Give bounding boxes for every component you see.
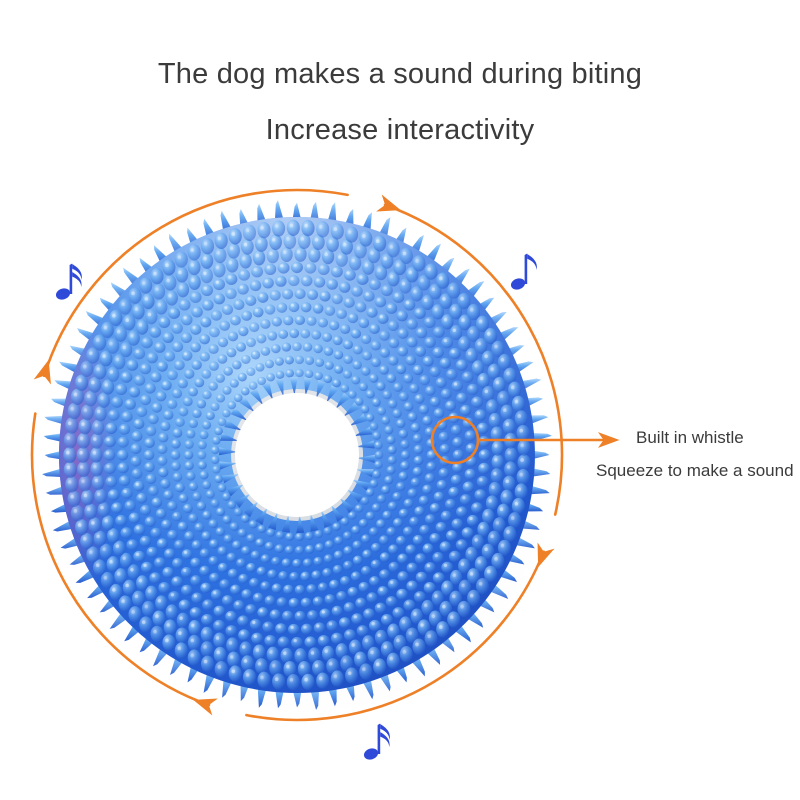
music-note-right — [509, 254, 536, 292]
product-marketing-image: The dog makes a sound during biting Incr… — [0, 0, 800, 800]
product-illustration — [0, 0, 800, 800]
callout-subtitle: Squeeze to make a sound — [596, 461, 794, 481]
callout-title: Built in whistle — [636, 428, 744, 448]
music-note-left — [54, 264, 81, 302]
toy-center-hole — [235, 393, 359, 517]
music-note-bottom — [362, 724, 389, 762]
